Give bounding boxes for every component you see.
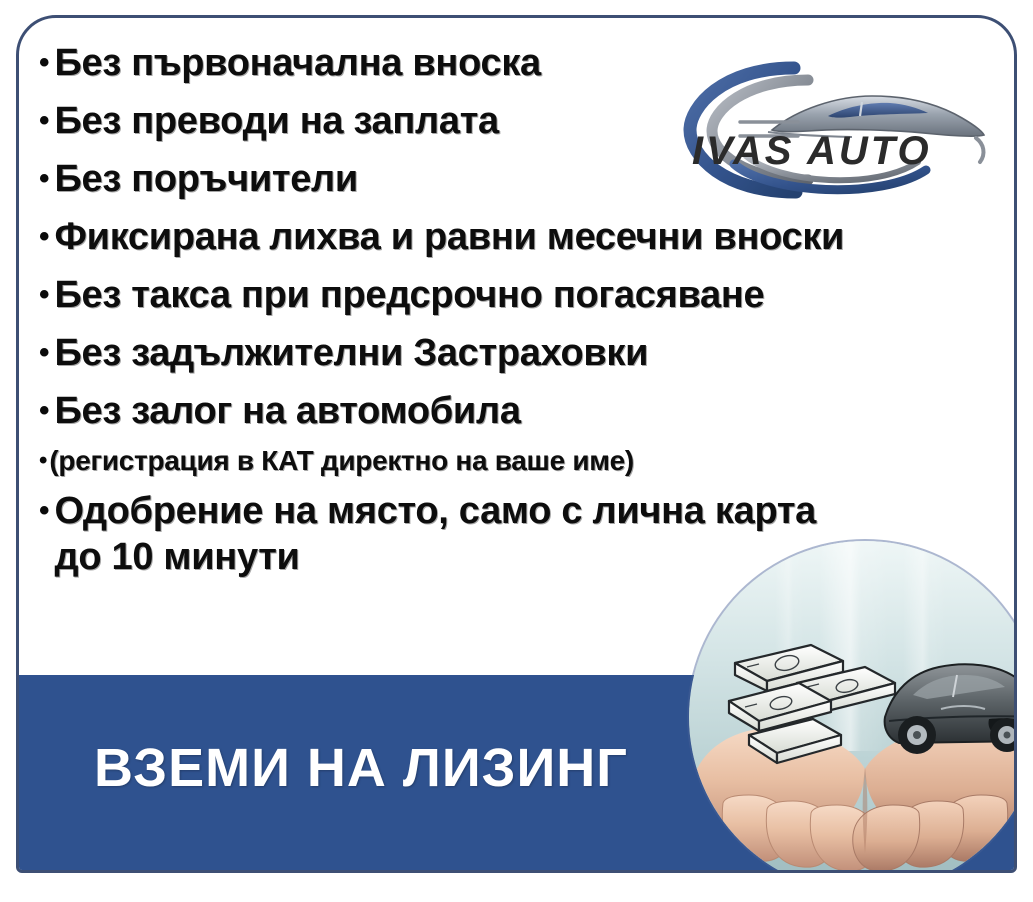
bullet-dot-icon: • [39,272,55,318]
banner-title: ВЗЕМИ НА ЛИЗИНГ [94,737,628,799]
list-item: • (регистрация в КАТ директно на ваше им… [39,444,1017,478]
bullet-dot-icon: • [39,40,55,86]
leasing-advert-poster: • Без първоначална вноска • Без преводи … [0,0,1033,902]
bullet-dot-icon: • [39,156,55,202]
list-item-label: Без залог на автомобила [55,388,1017,434]
logo-wordmark: IVAS AUTO [692,129,932,173]
list-item: • Без такса при предсрочно погасяване [39,272,1017,318]
list-item: • Без задължителни Застраховки [39,330,1017,376]
list-item-label: Без такса при предсрочно погасяване [55,272,1017,318]
bullet-dot-icon: • [39,388,55,434]
list-item-label: Фиксирана лихва и равни месечни вноски [55,214,1017,260]
bullet-dot-icon: • [39,330,55,376]
list-item-label: Без задължителни Застраховки [55,330,1017,376]
ivas-auto-logo: IVAS AUTO [676,52,996,202]
bullet-dot-icon: • [39,488,55,534]
list-item-label: (регистрация в КАТ директно на ваше име) [49,444,1017,478]
list-item: • Без залог на автомобила [39,388,1017,434]
poster-frame: • Без първоначална вноска • Без преводи … [16,15,1017,873]
list-item: • Фиксирана лихва и равни месечни вноски [39,214,1017,260]
bullet-dot-icon: • [39,444,49,478]
bullet-dot-icon: • [39,214,55,260]
bullet-dot-icon: • [39,98,55,144]
